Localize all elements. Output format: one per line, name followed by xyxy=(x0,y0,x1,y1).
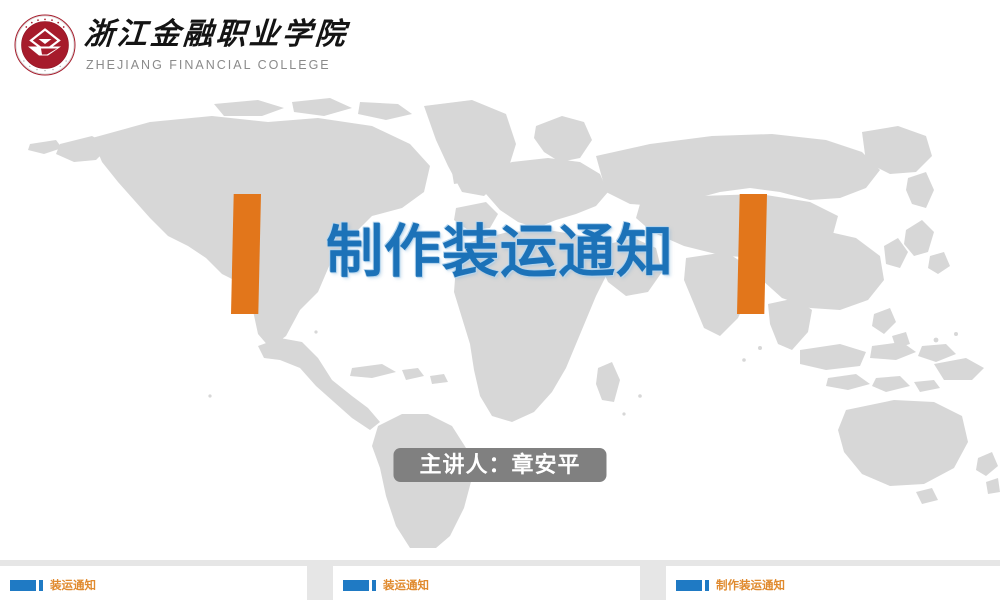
blue-block-marker-icon xyxy=(676,580,702,591)
blue-tick-marker-icon xyxy=(39,580,43,591)
page-title: 制作装运通知 xyxy=(0,216,1000,288)
bottom-panel-label: 装运通知 xyxy=(50,579,96,591)
panel-divider-2 xyxy=(640,560,666,600)
bottom-panel-1[interactable]: 装运通知 xyxy=(0,566,307,600)
panel-inner: 制作装运通知 xyxy=(676,578,785,592)
blue-block-marker-icon xyxy=(10,580,36,591)
bottom-panel-3[interactable]: 制作装运通知 xyxy=(666,566,1000,600)
blue-tick-marker-icon xyxy=(705,580,709,591)
panel-inner: 装运通知 xyxy=(343,578,429,592)
bottom-panel-label: 装运通知 xyxy=(383,579,429,591)
panel-inner: 装运通知 xyxy=(10,578,96,592)
blue-tick-marker-icon xyxy=(372,580,376,591)
brand-name-english: ZHEJIANG FINANCIAL COLLEGE xyxy=(86,57,504,73)
bottom-panel-2[interactable]: 装运通知 xyxy=(333,566,640,600)
presentation-slide: 浙江金融职业学院 ZHEJIANG FINANCIAL COLLEGE xyxy=(0,0,1000,600)
brand-text-block: 浙江金融职业学院 ZHEJIANG FINANCIAL COLLEGE xyxy=(84,16,504,73)
brand-name-chinese: 浙江金融职业学院 xyxy=(83,16,506,54)
panel-divider-1 xyxy=(307,560,333,600)
presenter-badge: 主讲人：章安平 xyxy=(393,448,606,482)
bottom-thumbnail-bar: 装运通知 装运通知 制作装运通知 xyxy=(0,560,1000,600)
blue-block-marker-icon xyxy=(343,580,369,591)
bottom-panel-label: 制作装运通知 xyxy=(716,579,785,591)
brand-header: 浙江金融职业学院 ZHEJIANG FINANCIAL COLLEGE xyxy=(0,0,1000,96)
zhejiang-financial-college-seal-icon xyxy=(14,14,76,76)
